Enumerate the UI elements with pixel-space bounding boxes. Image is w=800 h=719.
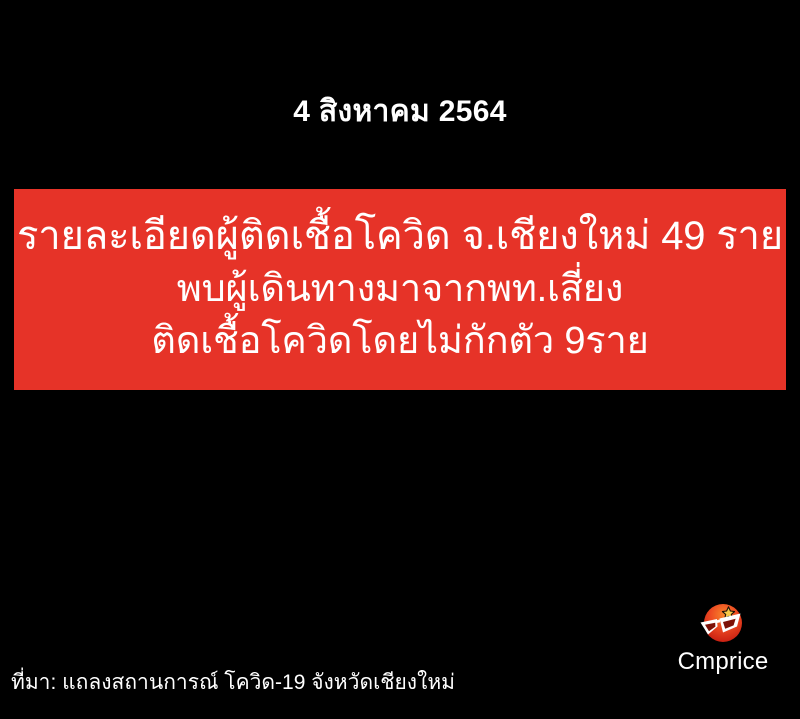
- cmprice-wordmark: Cmprice: [678, 649, 769, 675]
- cmprice-logo: Cmprice: [668, 599, 778, 675]
- alert-line-1: รายละเอียดผู้ติดเชื้อโควิด จ.เชียงใหม่ 4…: [17, 216, 783, 256]
- page-title: 4 สิงหาคม 2564: [0, 92, 800, 132]
- alert-banner: รายละเอียดผู้ติดเชื้อโควิด จ.เชียงใหม่ 4…: [14, 189, 786, 390]
- source-credit: ที่มา: แถลงสถานการณ์ โควิด-19 จังหวัดเชี…: [11, 670, 455, 696]
- alert-line-2: พบผู้เดินทางมาจากพท.เสี่ยง: [177, 270, 623, 308]
- poster-canvas: 4 สิงหาคม 2564 รายละเอียดผู้ติดเชื้อโควิ…: [0, 0, 800, 719]
- cmprice-mascot-icon: [697, 599, 749, 647]
- alert-line-3: ติดเชื้อโควิดโดยไม่กักตัว 9ราย: [151, 322, 648, 360]
